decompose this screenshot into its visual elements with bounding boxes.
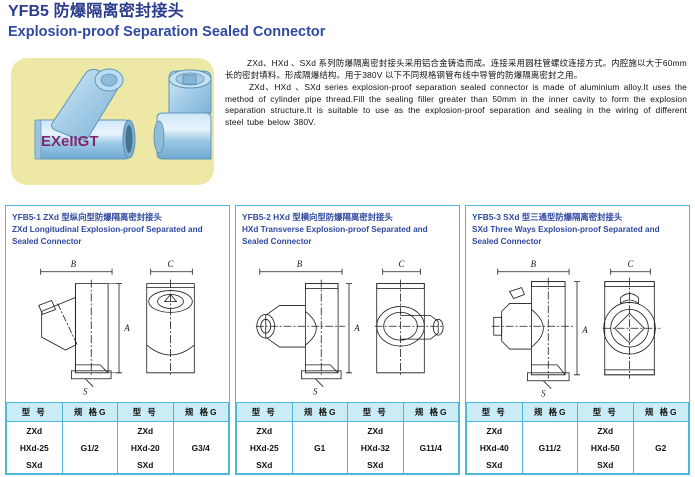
photo-connector-left: EXeIIGT bbox=[35, 69, 135, 159]
cell-spec: G3/4 bbox=[173, 422, 229, 474]
th-spec-2: 规 格G bbox=[403, 403, 459, 422]
table-row: ZXd G1/2 ZXd G3/4 bbox=[7, 422, 229, 440]
panel-3-title-cn: YFB5-3 SXd 型三通型防爆隔离密封接头 bbox=[472, 211, 684, 224]
th-model: 型 号 bbox=[237, 403, 293, 422]
th-spec: 规 格G bbox=[522, 403, 578, 422]
dim-label-a: A bbox=[353, 323, 360, 333]
cell-spec: G11/4 bbox=[403, 422, 459, 474]
dim-label-b: B bbox=[297, 258, 303, 268]
cell-model: ZXd bbox=[578, 422, 634, 440]
th-spec-suffix: G bbox=[559, 407, 566, 417]
panel-3-heading: YFB5-3 SXd 型三通型防爆隔离密封接头 SXd Three Ways E… bbox=[466, 206, 689, 249]
page-title-cn: YFB5 防爆隔离密封接头 bbox=[8, 2, 325, 21]
product-description: ZXd、HXd 、SXd 系列防爆隔离密封接头采用铝合金铸造而成。连接采用圆柱管… bbox=[225, 58, 687, 130]
product-variant-panels: YFB5-1 ZXd 型纵向型防爆隔离密封接头 ZXd Longitudinal… bbox=[5, 205, 690, 475]
th-spec-text: 规 格 bbox=[74, 407, 99, 417]
page-header: YFB5 防爆隔离密封接头 Explosion-proof Separation… bbox=[8, 2, 325, 42]
cell-model: ZXd bbox=[467, 422, 523, 440]
product-photo-illustration: EXeIIGT bbox=[11, 58, 214, 185]
dim-label-c: C bbox=[628, 258, 635, 268]
brand-text: EXeIIGT bbox=[41, 133, 99, 150]
table-header-row: 型 号 规 格G 型 号 规 格G bbox=[7, 403, 229, 422]
cell-model: ZXd bbox=[348, 422, 404, 440]
th-model: 型 号 bbox=[467, 403, 523, 422]
cell-model: HXd-40 bbox=[467, 439, 523, 456]
cell-model: HXd-20 bbox=[118, 439, 174, 456]
cell-model: SXd bbox=[7, 456, 63, 474]
dim-label-a: A bbox=[581, 325, 588, 335]
panel-1-spec-table: 型 号 规 格G 型 号 规 格G ZXd G1/2 ZXd G3/4 HXd-… bbox=[6, 402, 229, 474]
panel-2-heading: YFB5-2 HXd 型横向型防爆隔离密封接头 HXd Transverse E… bbox=[236, 206, 459, 249]
dim-label-s: S bbox=[313, 386, 318, 396]
panel-1-drawing: B C A S bbox=[6, 249, 229, 403]
cell-model: SXd bbox=[118, 456, 174, 474]
th-model: 型 号 bbox=[7, 403, 63, 422]
cell-spec: G2 bbox=[633, 422, 689, 474]
th-spec-text: 规 格 bbox=[534, 407, 559, 417]
cell-model: SXd bbox=[348, 456, 404, 474]
th-spec: 规 格G bbox=[292, 403, 348, 422]
th-spec-text: 规 格 bbox=[304, 407, 329, 417]
panel-yfb5-1: YFB5-1 ZXd 型纵向型防爆隔离密封接头 ZXd Longitudinal… bbox=[5, 205, 230, 475]
th-spec-text-2: 规 格 bbox=[415, 407, 440, 417]
cell-model: HXd-25 bbox=[7, 439, 63, 456]
th-model-2: 型 号 bbox=[348, 403, 404, 422]
panel-1-heading: YFB5-1 ZXd 型纵向型防爆隔离密封接头 ZXd Longitudinal… bbox=[6, 206, 229, 249]
cell-model: SXd bbox=[578, 456, 634, 474]
dim-label-a: A bbox=[123, 323, 130, 333]
product-photo: EXeIIGT bbox=[11, 58, 214, 185]
th-model-2: 型 号 bbox=[118, 403, 174, 422]
cell-model: HXd-25 bbox=[237, 439, 293, 456]
panel-yfb5-3: YFB5-3 SXd 型三通型防爆隔离密封接头 SXd Three Ways E… bbox=[465, 205, 690, 475]
dim-label-s: S bbox=[83, 386, 88, 396]
cell-model: ZXd bbox=[118, 422, 174, 440]
panel-2-title-en: HXd Transverse Explosion-proof Separated… bbox=[242, 224, 454, 249]
th-spec-2: 规 格G bbox=[173, 403, 229, 422]
cell-spec: G1/2 bbox=[62, 422, 118, 474]
dim-label-b: B bbox=[531, 258, 537, 268]
panel-1-title-cn: YFB5-1 ZXd 型纵向型防爆隔离密封接头 bbox=[12, 211, 224, 224]
th-spec-suffix-2: G bbox=[670, 407, 677, 417]
dim-label-b: B bbox=[71, 258, 77, 268]
description-en: ZXd、HXd 、SXd series explosion-proof sepa… bbox=[225, 82, 687, 128]
th-model-2: 型 号 bbox=[578, 403, 634, 422]
panel-2-drawing: B C A S bbox=[236, 249, 459, 403]
cell-model: ZXd bbox=[237, 422, 293, 440]
dim-label-s: S bbox=[541, 388, 546, 398]
panel-3-drawing: B C A S bbox=[466, 249, 689, 403]
cell-spec: G11/2 bbox=[522, 422, 578, 474]
th-spec-suffix: G bbox=[329, 407, 336, 417]
cell-model: HXd-50 bbox=[578, 439, 634, 456]
product-code: YFB5 bbox=[8, 3, 49, 20]
th-spec-suffix-2: G bbox=[210, 407, 217, 417]
dim-label-c: C bbox=[168, 258, 175, 268]
table-row: ZXd G11/2 ZXd G2 bbox=[467, 422, 689, 440]
th-spec-text-2: 规 格 bbox=[645, 407, 670, 417]
description-cn: ZXd、HXd 、SXd 系列防爆隔离密封接头采用铝合金铸造而成。连接采用圆柱管… bbox=[225, 58, 687, 81]
table-header-row: 型 号 规 格G 型 号 规 格G bbox=[467, 403, 689, 422]
photo-connector-right bbox=[154, 70, 211, 159]
th-spec-suffix-2: G bbox=[440, 407, 447, 417]
table-header-row: 型 号 规 格G 型 号 规 格G bbox=[237, 403, 459, 422]
cell-spec: G1 bbox=[292, 422, 348, 474]
cell-model: SXd bbox=[467, 456, 523, 474]
panel-2-spec-table: 型 号 规 格G 型 号 规 格G ZXd G1 ZXd G11/4 HXd-2… bbox=[236, 402, 459, 474]
panel-2-title-cn: YFB5-2 HXd 型横向型防爆隔离密封接头 bbox=[242, 211, 454, 224]
th-spec: 规 格G bbox=[62, 403, 118, 422]
table-row: ZXd G1 ZXd G11/4 bbox=[237, 422, 459, 440]
dim-label-c: C bbox=[399, 258, 406, 268]
cell-model: HXd-32 bbox=[348, 439, 404, 456]
panel-3-title-en: SXd Three Ways Explosion-proof Separated… bbox=[472, 224, 684, 249]
panel-1-title-en: ZXd Longitudinal Explosion-proof Separat… bbox=[12, 224, 224, 249]
th-spec-suffix: G bbox=[99, 407, 106, 417]
panel-3-spec-table: 型 号 规 格G 型 号 规 格G ZXd G11/2 ZXd G2 HXd-4… bbox=[466, 402, 689, 474]
cell-model: ZXd bbox=[7, 422, 63, 440]
page-title-cn-text: 防爆隔离密封接头 bbox=[54, 3, 184, 20]
th-spec-text-2: 规 格 bbox=[185, 407, 210, 417]
page-title-en: Explosion-proof Separation Sealed Connec… bbox=[8, 23, 325, 42]
th-spec-2: 规 格G bbox=[633, 403, 689, 422]
panel-yfb5-2: YFB5-2 HXd 型横向型防爆隔离密封接头 HXd Transverse E… bbox=[235, 205, 460, 475]
cell-model: SXd bbox=[237, 456, 293, 474]
